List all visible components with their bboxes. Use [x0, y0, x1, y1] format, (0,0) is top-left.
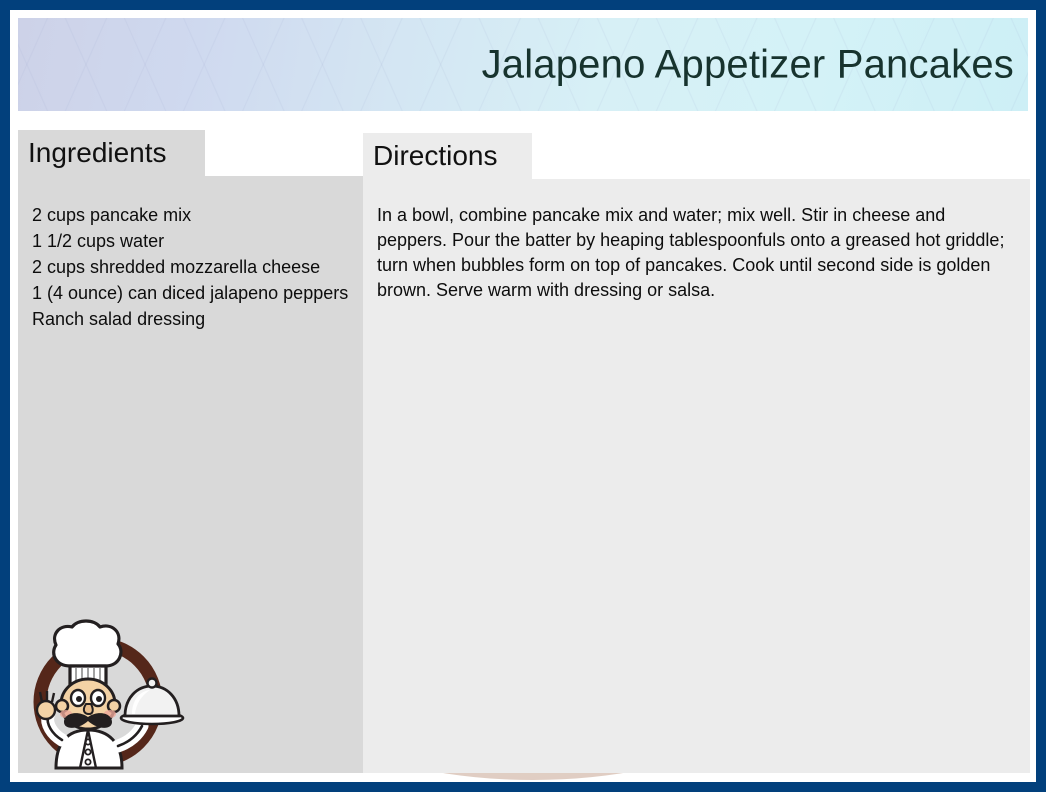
list-item: Ranch salad dressing [32, 306, 350, 332]
list-item: 2 cups shredded mozzarella cheese [32, 254, 350, 280]
list-item: 1 1/2 cups water [32, 228, 350, 254]
directions-heading: Directions [373, 142, 497, 170]
directions-body-text: In a bowl, combine pancake mix and water… [377, 203, 1016, 303]
list-item: 1 (4 ounce) can diced jalapeno peppers [32, 280, 350, 306]
list-item: 2 cups pancake mix [32, 202, 350, 228]
title-banner: Jalapeno Appetizer Pancakes [18, 18, 1028, 111]
chef-logo-icon [26, 618, 186, 773]
section-tab-directions: Directions [363, 133, 532, 179]
directions-panel: In a bowl, combine pancake mix and water… [363, 179, 1030, 773]
ingredients-list: 2 cups pancake mix 1 1/2 cups water 2 cu… [32, 202, 350, 332]
ingredients-heading: Ingredients [28, 139, 167, 167]
slide-inner-area: Jalapeno Appetizer Pancakes [10, 10, 1036, 782]
section-tab-ingredients: Ingredients [18, 130, 205, 176]
page-title: Jalapeno Appetizer Pancakes [482, 42, 1014, 87]
recipe-card-slide: Jalapeno Appetizer Pancakes [0, 0, 1046, 792]
